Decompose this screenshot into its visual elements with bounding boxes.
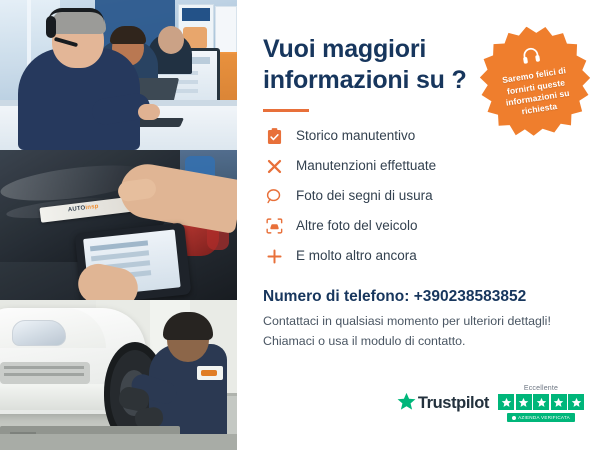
- plus-icon: [263, 246, 285, 266]
- trustpilot-star-icon: [397, 392, 416, 416]
- star-filled-icon: [551, 394, 567, 410]
- contact-line-2: Chiamaci o usa il modulo di contatto.: [263, 333, 578, 351]
- list-item: Altre foto del veicolo: [263, 216, 578, 236]
- check-circle-icon: [512, 416, 516, 420]
- call-center-agents-photo: [0, 0, 237, 150]
- title-divider: [263, 109, 309, 112]
- phone-number[interactable]: +390238583852: [414, 288, 527, 305]
- list-item: E molto altro ancora: [263, 246, 578, 266]
- tools-wrench-icon: [263, 156, 285, 176]
- star-filled-icon: [568, 394, 584, 410]
- verified-business-badge: AZIENDA VERIFICATA: [507, 413, 575, 422]
- star-filled-icon: [533, 394, 549, 410]
- trustpilot-widget[interactable]: Trustpilot Eccellente AZIENDA VERIFICATA: [397, 385, 584, 422]
- contact-line-1: Contattaci in qualsiasi momento per ulte…: [263, 313, 578, 331]
- headset-icon: [520, 45, 543, 71]
- phone-block: Numero di telefono: +390238583852: [263, 288, 578, 306]
- feature-label: Storico manutentivo: [296, 129, 415, 144]
- star-filled-icon: [498, 394, 514, 410]
- trustpilot-brand: Trustpilot: [397, 392, 489, 416]
- feature-label: Foto dei segni di usura: [296, 189, 433, 204]
- feature-label: Manutenzioni effettuate: [296, 159, 436, 174]
- clipboard-check-icon: [263, 126, 285, 146]
- callout-badge: Saremo felici di fornirti queste informa…: [472, 18, 598, 144]
- mechanic-wheel-inspection-photo: [0, 300, 237, 450]
- trustpilot-rating-label: Eccellente: [524, 385, 558, 392]
- trustpilot-rating-group: Eccellente AZIENDA VERIFICATA: [498, 385, 584, 422]
- verified-label: AZIENDA VERIFICATA: [518, 415, 570, 420]
- vehicle-inspection-tablet-photo: AUTOinsp: [0, 150, 237, 300]
- star-filled-icon: [516, 394, 532, 410]
- feature-label: E molto altro ancora: [296, 249, 417, 264]
- photo-column: AUTOinsp: [0, 0, 237, 450]
- promo-banner: AUTOinsp Vuoi maggiori informazioni su ?: [0, 0, 600, 450]
- trustpilot-stars: [498, 394, 584, 410]
- magnifier-icon: [263, 186, 285, 206]
- list-item: Foto dei segni di usura: [263, 186, 578, 206]
- photo-frame-car-icon: [263, 216, 285, 236]
- trustpilot-wordmark: Trustpilot: [418, 394, 489, 413]
- feature-list: Storico manutentivo Manutenzioni effettu…: [263, 126, 578, 266]
- feature-label: Altre foto del veicolo: [296, 219, 418, 234]
- page-title: Vuoi maggiori informazioni su ?: [263, 34, 478, 95]
- phone-label: Numero di telefono:: [263, 288, 409, 305]
- content-panel: Vuoi maggiori informazioni su ? Saremo f…: [237, 0, 600, 450]
- list-item: Manutenzioni effettuate: [263, 156, 578, 176]
